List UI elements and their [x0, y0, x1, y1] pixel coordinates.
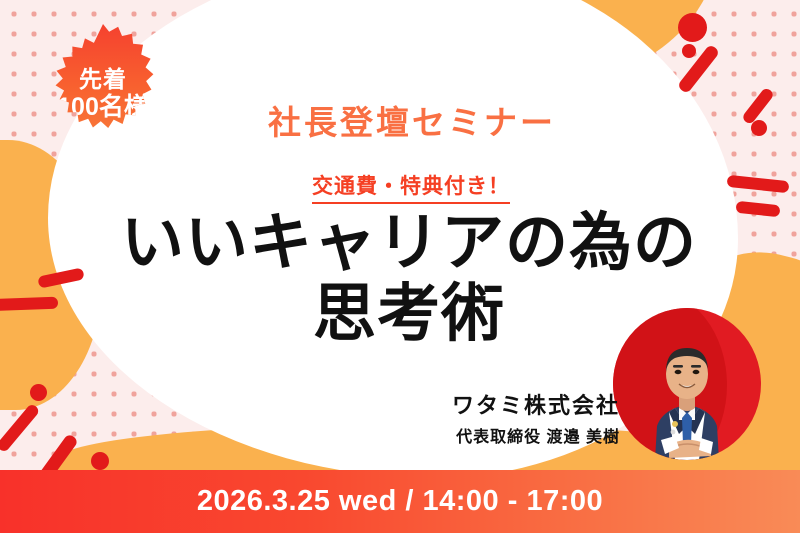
date-banner: 2026.3.25 wed / 14:00 - 17:00 — [0, 470, 800, 533]
main-title: いいキャリアの為の 思考術 — [0, 208, 800, 349]
subhead-underlined: 交通費・特典付き！ — [312, 175, 510, 204]
main-title-line-1: いいキャリアの為の — [18, 208, 800, 279]
speaker-name: 代表取締役 渡邉 美樹 — [0, 423, 620, 447]
badge-line-1: 先着 — [79, 66, 127, 93]
kicker-text: 社長登壇セミナー — [0, 96, 800, 144]
main-title-line-2: 思考術 — [18, 279, 800, 350]
subhead-text: 交通費・特典付き！ — [0, 170, 800, 200]
company-name: ワタミ株式会社 — [0, 388, 620, 420]
date-time-text: 2026.3.25 wed / 14:00 - 17:00 — [197, 485, 603, 518]
red-dot-accent — [678, 13, 707, 42]
red-dot-accent — [682, 44, 696, 58]
seminar-banner: 先着 100名様 社長登壇セミナー 交通費・特典付き！ いいキャリアの為の 思考… — [0, 0, 800, 533]
red-dot-accent — [91, 452, 109, 470]
